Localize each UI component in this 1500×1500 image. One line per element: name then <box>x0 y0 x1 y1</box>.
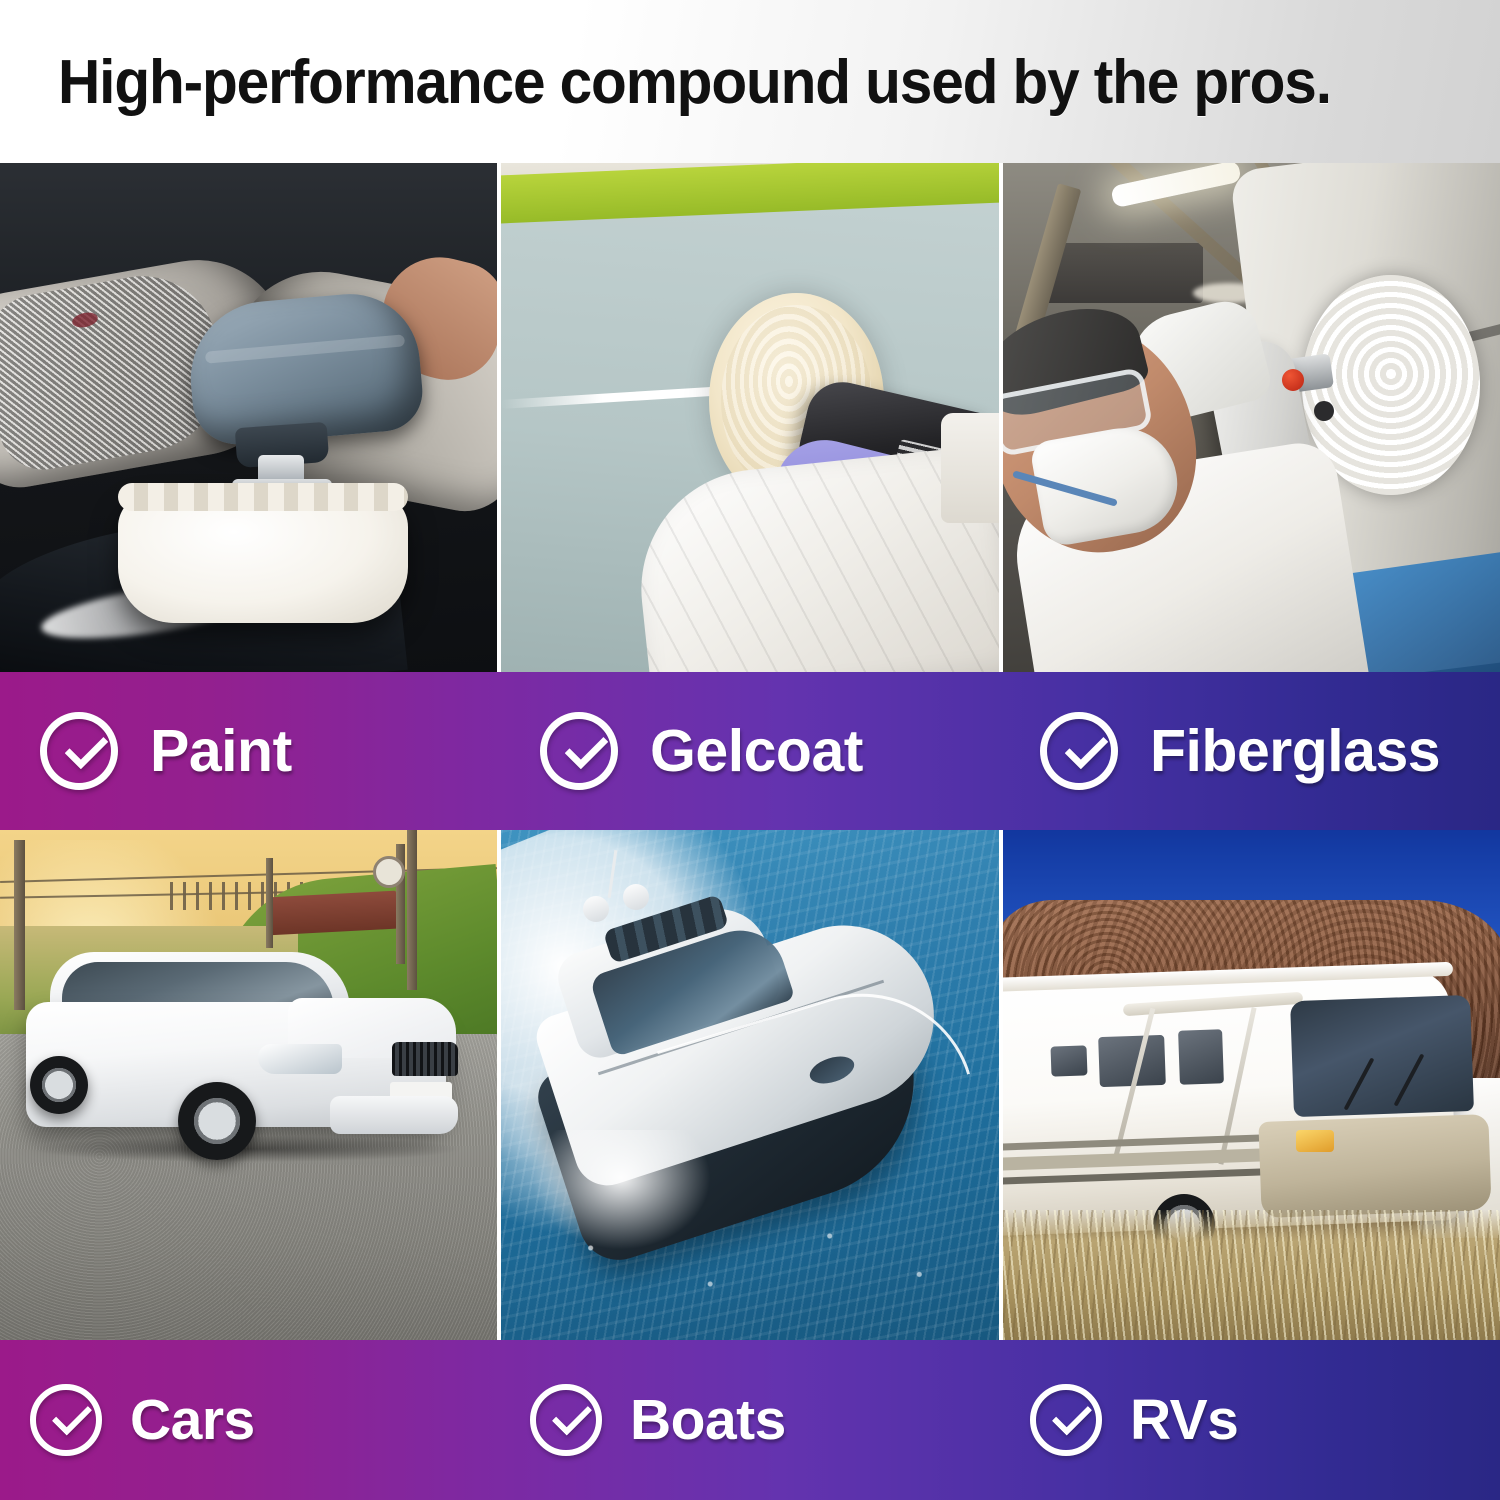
car-headlight <box>258 1044 342 1074</box>
check-circle-icon <box>40 712 118 790</box>
polisher-power-button <box>1282 369 1304 391</box>
blue-tarp <box>1352 552 1500 672</box>
banner-item-gelcoat[interactable]: Gelcoat <box>500 672 1000 830</box>
rear-wheel <box>30 1056 88 1114</box>
page-title: High-performance compound used by the pr… <box>58 47 1331 118</box>
motor-yacht-photo <box>501 830 998 1340</box>
compound-streak <box>501 386 726 409</box>
motorhome-windshield <box>1290 995 1474 1117</box>
banner-item-fiberglass[interactable]: Fiberglass <box>1000 672 1500 830</box>
banner-item-rvs[interactable]: RVs <box>1000 1340 1500 1500</box>
banner-label-paint: Paint <box>150 717 292 785</box>
motorhome-nose <box>1258 1114 1491 1218</box>
utility-pole <box>407 830 417 990</box>
check-circle-icon <box>1040 712 1118 790</box>
photo-row-bottom <box>0 830 1500 1340</box>
desert-brush <box>1003 1210 1500 1340</box>
front-wheel <box>178 1082 256 1160</box>
banner-label-gelcoat: Gelcoat <box>650 717 863 785</box>
side-window <box>1050 1045 1087 1076</box>
white-foam-pad <box>118 493 408 623</box>
surfaces-banner: Paint Gelcoat Fiberglass <box>0 672 1500 830</box>
photo-row-top <box>0 163 1500 672</box>
tool-shelf <box>1043 243 1203 303</box>
white-car-photo <box>0 830 497 1340</box>
vehicles-banner: Cars Boats RVs <box>0 1340 1500 1500</box>
banner-label-cars: Cars <box>130 1387 255 1453</box>
banner-item-paint[interactable]: Paint <box>0 672 500 830</box>
utility-pole <box>14 840 25 1010</box>
check-circle-icon <box>1030 1384 1102 1456</box>
motorhome-headlight <box>1296 1130 1334 1152</box>
check-circle-icon <box>540 712 618 790</box>
gelcoat-buffing-photo <box>501 163 998 672</box>
utility-pole <box>266 858 273 948</box>
check-circle-icon <box>30 1384 102 1456</box>
banner-item-cars[interactable]: Cars <box>0 1340 500 1500</box>
banner-label-rvs: RVs <box>1130 1387 1238 1453</box>
water-sparkles <box>501 1200 998 1320</box>
polisher-speed-dial <box>1314 401 1334 421</box>
car-grille <box>392 1042 458 1076</box>
product-infographic: High-performance compound used by the pr… <box>0 0 1500 1500</box>
fiberglass-polishing-photo <box>1003 163 1500 672</box>
banner-label-fiberglass: Fiberglass <box>1150 717 1440 785</box>
header-bar: High-performance compound used by the pr… <box>0 0 1500 163</box>
banner-item-boats[interactable]: Boats <box>500 1340 1000 1500</box>
paint-polishing-photo <box>0 163 497 672</box>
banner-label-boats: Boats <box>630 1387 786 1453</box>
car-bumper <box>330 1096 458 1134</box>
compound-pail <box>941 413 999 523</box>
side-window <box>1178 1029 1224 1085</box>
motorhome-photo <box>1003 830 1500 1340</box>
green-masking-tape <box>501 163 998 225</box>
check-circle-icon <box>530 1384 602 1456</box>
rail-wagon <box>266 891 398 936</box>
